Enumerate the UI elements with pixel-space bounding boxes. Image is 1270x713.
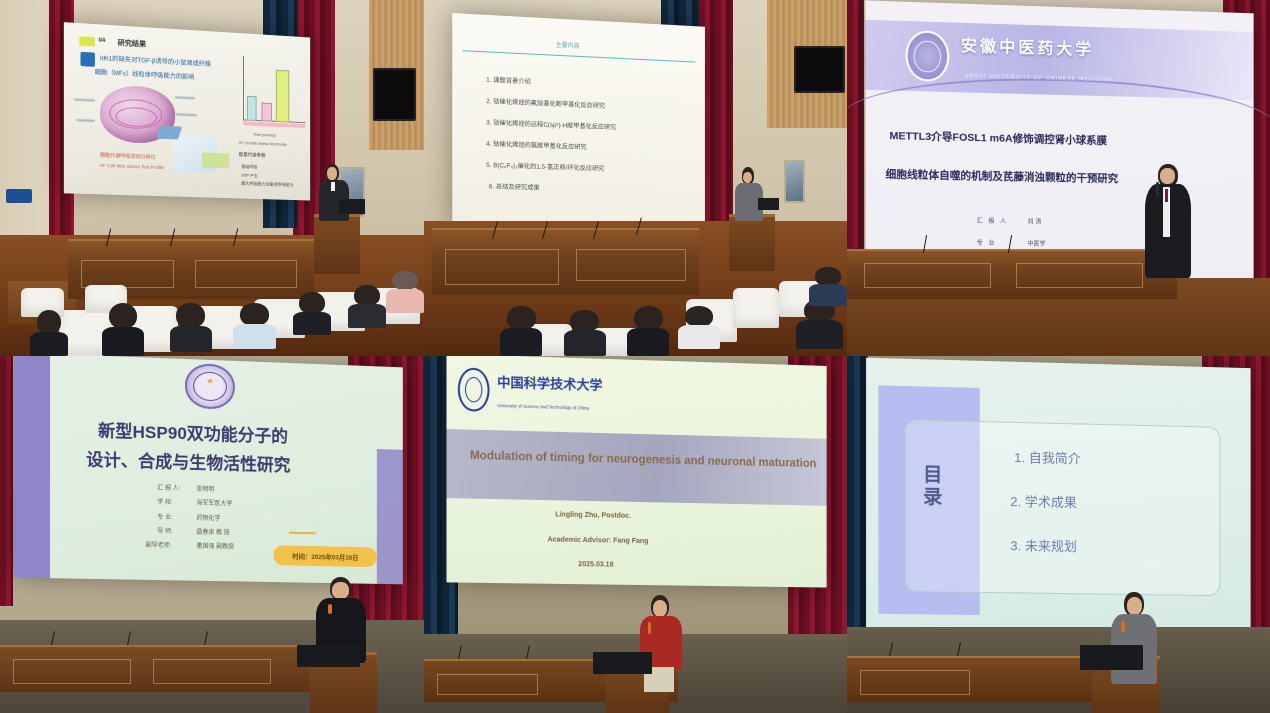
wall-monitor xyxy=(794,46,845,92)
academic-advisor: Academic Advisor: Fang Fang xyxy=(548,536,649,545)
date-underline xyxy=(289,532,316,535)
handheld-microphone xyxy=(328,604,332,614)
slide-section-accent xyxy=(79,37,94,46)
slide-heading-line2: 细胞（MFs）线粒体呼吸能力的影响 xyxy=(94,67,194,81)
slide-title-line2: 设计、合成与生物活性研究 xyxy=(86,444,290,475)
head-table-inlay xyxy=(576,249,686,281)
illustration-label xyxy=(76,119,94,122)
head-table-inlay xyxy=(195,260,297,288)
wall-monitor xyxy=(373,68,415,121)
head-table-inlay xyxy=(860,670,970,695)
head-table-inlay xyxy=(1016,263,1143,288)
slide-heading-icon xyxy=(80,52,94,66)
projection-screen-2: 主要内容 1. 课题背景介绍 2. 钴催化烯烃的氟烷基化断甲基化反应研究 3. … xyxy=(452,13,704,233)
audience-member xyxy=(809,267,847,306)
audience-member xyxy=(293,292,331,335)
slide-accent-right xyxy=(377,449,403,585)
note-item: 基础呼吸 xyxy=(241,164,257,171)
head-table-inlay xyxy=(13,659,132,684)
presenter-name: Lingling Zhu, Postdoc. xyxy=(556,511,632,519)
university-seal xyxy=(459,367,490,411)
field-label: 汇 报 人: xyxy=(157,482,180,492)
field-value: 刘 涛 xyxy=(1028,216,1042,225)
field-label: 学 校: xyxy=(157,497,172,506)
university-name-cn: 安徽中医药大学 xyxy=(961,32,1094,60)
field-value: 海军军医大学 xyxy=(196,497,232,507)
field-label: 专 业 xyxy=(977,238,997,247)
laptop xyxy=(1080,645,1143,670)
field-label: 导 师: xyxy=(157,525,172,534)
slide-title-line1: METTL3介导FOSL1 m6A修饰调控肾小球系膜 xyxy=(890,128,1107,148)
slide-accent-left xyxy=(14,356,50,578)
field-value: 中医学 xyxy=(1028,238,1046,247)
presenter xyxy=(1143,164,1194,278)
illustration-label xyxy=(175,96,195,99)
audience-member xyxy=(796,299,843,349)
audience-member xyxy=(386,271,424,314)
audience-chair xyxy=(733,288,780,327)
field-label: 专 业: xyxy=(157,511,172,520)
oxygen-consumption-chart xyxy=(238,56,305,132)
audience-member xyxy=(233,303,275,349)
audience-member xyxy=(30,310,68,356)
note-item: 最大呼吸能力及备用呼吸能力 xyxy=(241,181,293,189)
slide-title-line2: 细胞线粒体自噬的机制及芪藤消浊颗粒的干预研究 xyxy=(886,166,1119,186)
projection-screen-1: 04 研究结果 Idh1的缺失对TGF-β诱导的小鼠肾成纤维 细胞（MFs）线粒… xyxy=(64,22,310,201)
university-name-cn: 中国科学技术大学 xyxy=(498,371,603,393)
head-table-inlay xyxy=(445,249,559,285)
head-table-inlay xyxy=(153,659,272,684)
figure-caption-cn: 细胞代谢呼吸流动分析仪 xyxy=(100,152,156,161)
note-item: ATP 产生 xyxy=(241,173,258,179)
audience-member xyxy=(102,303,144,356)
panel-bottom-left: 新型HSP90双功能分子的 设计、合成与生物活性研究 汇 报 人: 张明明 学 … xyxy=(0,356,424,713)
panel-top-center: 主要内容 1. 课题背景介绍 2. 钴催化烯烃的氟烷基化断甲基化反应研究 3. … xyxy=(424,0,847,356)
exit-sign xyxy=(6,189,31,203)
chart-bar xyxy=(247,96,257,121)
chart-bar xyxy=(276,70,289,123)
field-label: 汇 报 人 xyxy=(977,216,1009,226)
date-badge: 时间：2025年03月18日 xyxy=(274,545,377,567)
panel-top-right: 安徽中医药大学 ANHUI UNIVERSITY OF CHINESE MEDI… xyxy=(847,0,1270,356)
presenter xyxy=(636,595,687,691)
panel-bottom-right: 目录 1. 自我简介 2. 学术成果 3. 未来规划 xyxy=(847,356,1270,713)
toc-item: 1. 自我简介 xyxy=(1014,447,1080,467)
presenter xyxy=(733,167,767,220)
laptop xyxy=(297,645,361,666)
slide-section-title: 研究结果 xyxy=(117,38,145,50)
audience-member xyxy=(627,306,669,356)
slide-title-line1: 新型HSP90双功能分子的 xyxy=(98,416,288,447)
laptop xyxy=(339,199,364,213)
field-value: 董国强 副教授 xyxy=(196,541,234,551)
handheld-microphone xyxy=(1121,621,1125,632)
university-seal xyxy=(906,30,950,82)
agenda-item: 1. 课题背景介绍 xyxy=(486,74,531,85)
handheld-microphone xyxy=(1156,182,1159,197)
agenda-item: 4. 钴催化烯烃的氨胺甲基化反应研究 xyxy=(486,138,586,151)
illustration-label xyxy=(74,98,95,101)
stage-curtain-left xyxy=(847,356,868,670)
agenda-item: 3. 钴催化烯烃的远程C(sp³)-H胺甲基化反应研究 xyxy=(486,117,616,131)
university-logo xyxy=(185,363,236,409)
control-room-window xyxy=(784,160,805,203)
projection-screen-6: 目录 1. 自我简介 2. 学术成果 3. 未来规划 xyxy=(866,358,1250,640)
panel-bottom-center: 中国科学技术大学 University of Science and Techn… xyxy=(424,356,847,713)
slide-title-rule xyxy=(462,49,694,61)
chart-axis-label: Time (minutes) xyxy=(253,133,276,138)
toc-item: 3. 未来规划 xyxy=(1010,535,1077,555)
audience-member xyxy=(348,285,386,328)
notes-title: 能量代谢参数 xyxy=(238,153,265,160)
slide-heading-line1: Idh1的缺失对TGF-β诱导的小鼠肾成纤维 xyxy=(100,54,211,69)
analyzer-plate-illustration xyxy=(155,126,182,140)
handheld-microphone xyxy=(648,622,652,634)
presentation-date: 2025.03.18 xyxy=(579,561,614,569)
illustration-label xyxy=(175,113,197,116)
panel-top-left: 04 研究结果 Idh1的缺失对TGF-β诱导的小鼠肾成纤维 细胞（MFs）线粒… xyxy=(0,0,424,356)
stage-curtain-left xyxy=(0,356,13,606)
field-value: 药物化学 xyxy=(196,512,220,522)
head-table-inlay xyxy=(437,674,539,695)
audience-member xyxy=(170,303,212,353)
presenter xyxy=(1109,592,1160,685)
chart-sub-caption: XF Cell Mito Stress Test Profile xyxy=(238,141,286,147)
projection-screen-4: 新型HSP90双功能分子的 设计、合成与生物活性研究 汇 报 人: 张明明 学 … xyxy=(14,356,403,584)
slide-section-number: 04 xyxy=(98,37,105,44)
photo-collage: 04 研究结果 Idh1的缺失对TGF-β诱导的小鼠肾成纤维 细胞（MFs）线粒… xyxy=(0,0,1270,713)
agenda-item: 5. B(C₆F₅)₃催化的1,5-氢正移/环化反应研究 xyxy=(486,159,604,172)
agenda-item: 6. 总结及研究成果 xyxy=(488,181,539,192)
agenda-item: 2. 钴催化烯烃的氟烷基化断甲基化反应研究 xyxy=(486,95,605,109)
toc-item: 2. 学术成果 xyxy=(1010,491,1077,511)
field-value: 盛春泉 教 授 xyxy=(196,526,229,536)
audience-member xyxy=(678,306,720,349)
laptop xyxy=(593,652,652,673)
head-table-inlay xyxy=(864,263,991,288)
chart-bar xyxy=(261,103,271,122)
projection-screen-5: 中国科学技术大学 University of Science and Techn… xyxy=(447,356,827,587)
audience-member xyxy=(564,310,606,356)
university-name-en: University of Science and Technology of … xyxy=(498,403,590,411)
field-label: 副导老师: xyxy=(145,540,171,550)
audience-member xyxy=(500,306,542,356)
laptop xyxy=(758,198,779,210)
analyzer-tray-illustration xyxy=(202,153,229,169)
section-label: 目录 xyxy=(917,465,944,510)
podium xyxy=(314,214,361,275)
field-value: 张明明 xyxy=(196,483,214,492)
podium xyxy=(729,214,776,271)
figure-caption-en: XF Cell Mito Stress Test Profile xyxy=(100,163,164,170)
slide-title: 主要内容 xyxy=(555,39,579,49)
